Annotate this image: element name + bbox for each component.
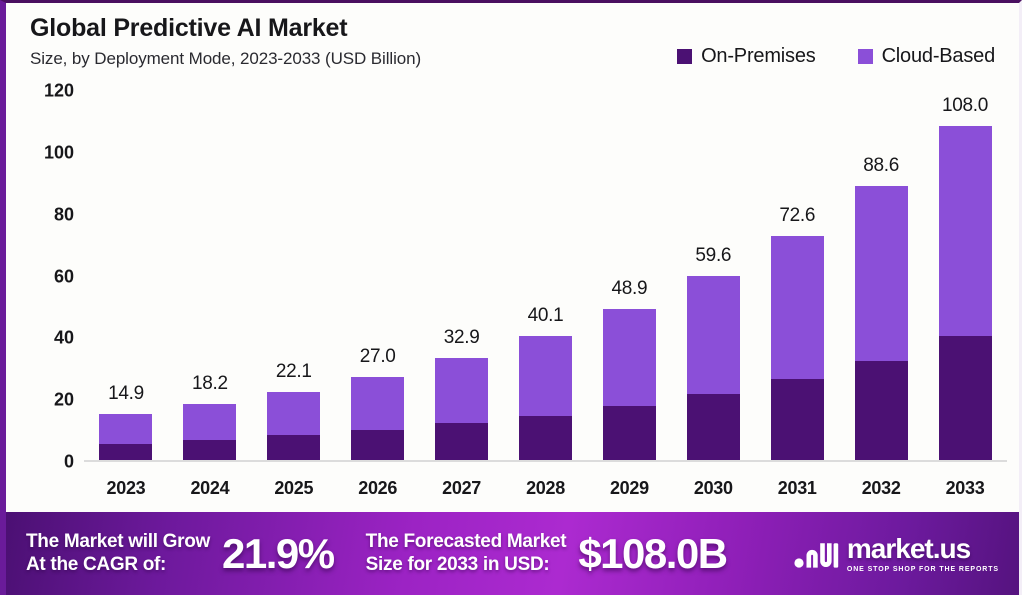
- bar-column[interactable]: 108.0: [923, 89, 1007, 460]
- bar-total-label: 108.0: [942, 95, 988, 117]
- bar-total-label: 88.6: [863, 155, 899, 177]
- bar-segment-cloud-based[interactable]: [519, 336, 572, 416]
- bar-segment-cloud-based[interactable]: [267, 392, 320, 436]
- bar-segment-cloud-based[interactable]: [183, 404, 236, 440]
- x-axis-tick-label: 2033: [923, 478, 1007, 499]
- bar-total-label: 48.9: [612, 278, 648, 300]
- x-axis-tick-label: 2032: [839, 478, 923, 499]
- cagr-caption-line2: At the CAGR of:: [26, 554, 210, 576]
- forecast-caption: The Forecasted Market Size for 2033 in U…: [366, 531, 567, 576]
- market-us-logo-mark-icon: [793, 537, 839, 571]
- bar-segment-cloud-based[interactable]: [855, 186, 908, 361]
- bar-segment-on-premises[interactable]: [99, 444, 152, 460]
- bar-segment-on-premises[interactable]: [435, 423, 488, 460]
- y-axis-tick-label: 60: [54, 266, 74, 287]
- y-axis-tick-label: 40: [54, 328, 74, 349]
- bar-segment-on-premises[interactable]: [519, 416, 572, 460]
- y-axis-tick-label: 120: [44, 81, 74, 102]
- bar-total-label: 27.0: [360, 346, 396, 368]
- bar-segment-on-premises[interactable]: [771, 379, 824, 460]
- bar-stack[interactable]: [687, 276, 740, 460]
- footer-banner: The Market will Grow At the CAGR of: 21.…: [6, 512, 1019, 595]
- y-axis-tick-label: 0: [64, 452, 74, 473]
- bar-total-label: 32.9: [444, 327, 480, 349]
- bar-column[interactable]: 48.9: [587, 89, 671, 460]
- x-axis-tick-label: 2025: [252, 478, 336, 499]
- bar-segment-cloud-based[interactable]: [435, 358, 488, 423]
- logo-wordmark: market.us: [847, 535, 999, 563]
- cagr-caption: The Market will Grow At the CAGR of:: [26, 531, 210, 576]
- x-axis-tick-label: 2026: [336, 478, 420, 499]
- chart-title: Global Predictive AI Market: [30, 13, 997, 43]
- cagr-caption-line1: The Market will Grow: [26, 531, 210, 553]
- bar-column[interactable]: 14.9: [84, 89, 168, 460]
- bar-segment-cloud-based[interactable]: [99, 414, 152, 444]
- plot-wrapper: 020406080100120 14.918.222.127.032.940.1…: [6, 91, 1019, 515]
- bar-stack[interactable]: [183, 404, 236, 460]
- bar-segment-on-premises[interactable]: [183, 440, 236, 460]
- bar-stack[interactable]: [267, 392, 320, 460]
- market-us-logo[interactable]: market.us ONE STOP SHOP FOR THE REPORTS: [793, 535, 1005, 573]
- bar-stack[interactable]: [939, 126, 992, 460]
- bar-segment-cloud-based[interactable]: [351, 377, 404, 430]
- y-axis-tick-label: 20: [54, 390, 74, 411]
- x-axis: 2023202420252026202720282029203020312032…: [84, 464, 1007, 512]
- bar-segment-on-premises[interactable]: [267, 435, 320, 460]
- bar-stack[interactable]: [771, 236, 824, 460]
- y-axis: 020406080100120: [6, 91, 84, 462]
- forecast-caption-line1: The Forecasted Market: [366, 531, 567, 553]
- x-axis-tick-label: 2030: [671, 478, 755, 499]
- bar-column[interactable]: 88.6: [839, 89, 923, 460]
- bar-segment-cloud-based[interactable]: [603, 309, 656, 406]
- square-swatch-icon: [858, 49, 873, 64]
- bar-total-label: 14.9: [108, 383, 144, 405]
- bar-total-label: 18.2: [192, 373, 228, 395]
- bar-column[interactable]: 22.1: [252, 89, 336, 460]
- bar-segment-on-premises[interactable]: [351, 430, 404, 460]
- bar-stack[interactable]: [603, 309, 656, 460]
- bar-column[interactable]: 32.9: [420, 89, 504, 460]
- bar-segment-on-premises[interactable]: [687, 394, 740, 460]
- bar-column[interactable]: 18.2: [168, 89, 252, 460]
- logo-text-wrapper: market.us ONE STOP SHOP FOR THE REPORTS: [847, 535, 999, 573]
- bar-stack[interactable]: [855, 186, 908, 460]
- bar-total-label: 22.1: [276, 361, 312, 383]
- bar-segment-on-premises[interactable]: [603, 406, 656, 460]
- bar-segment-cloud-based[interactable]: [771, 236, 824, 379]
- x-axis-tick-label: 2023: [84, 478, 168, 499]
- bar-column[interactable]: 59.6: [671, 89, 755, 460]
- forecast-caption-line2: Size for 2033 in USD:: [366, 554, 567, 576]
- chart-legend: On-Premises Cloud-Based: [677, 45, 995, 68]
- x-axis-tick-label: 2031: [755, 478, 839, 499]
- legend-label: Cloud-Based: [882, 45, 995, 68]
- x-axis-tick-label: 2027: [420, 478, 504, 499]
- legend-label: On-Premises: [701, 45, 816, 68]
- bar-column[interactable]: 27.0: [336, 89, 420, 460]
- bar-stack[interactable]: [351, 377, 404, 460]
- bar-column[interactable]: 72.6: [755, 89, 839, 460]
- bar-total-label: 40.1: [528, 305, 564, 327]
- bar-segment-on-premises[interactable]: [939, 336, 992, 460]
- bar-segment-cloud-based[interactable]: [939, 126, 992, 336]
- bar-total-label: 72.6: [779, 205, 815, 227]
- x-axis-tick-label: 2028: [504, 478, 588, 499]
- bar-total-label: 59.6: [695, 245, 731, 267]
- legend-item-cloud-based[interactable]: Cloud-Based: [858, 45, 995, 68]
- y-axis-tick-label: 100: [44, 142, 74, 163]
- bar-stack[interactable]: [435, 358, 488, 460]
- bar-stack[interactable]: [99, 414, 152, 460]
- bar-segment-on-premises[interactable]: [855, 361, 908, 460]
- bar-segment-cloud-based[interactable]: [687, 276, 740, 394]
- x-axis-tick-label: 2024: [168, 478, 252, 499]
- plot-area: 14.918.222.127.032.940.148.959.672.688.6…: [84, 91, 1007, 462]
- bar-column[interactable]: 40.1: [504, 89, 588, 460]
- logo-tagline: ONE STOP SHOP FOR THE REPORTS: [847, 566, 999, 573]
- bar-group: 14.918.222.127.032.940.148.959.672.688.6…: [84, 89, 1007, 460]
- legend-item-on-premises[interactable]: On-Premises: [677, 45, 816, 68]
- x-axis-tick-label: 2029: [587, 478, 671, 499]
- cagr-value: 21.9%: [222, 533, 334, 575]
- square-swatch-icon: [677, 49, 692, 64]
- y-axis-tick-label: 80: [54, 204, 74, 225]
- forecast-value: $108.0B: [578, 533, 726, 575]
- bar-stack[interactable]: [519, 336, 572, 460]
- infographic-root: Global Predictive AI Market Size, by Dep…: [0, 0, 1022, 595]
